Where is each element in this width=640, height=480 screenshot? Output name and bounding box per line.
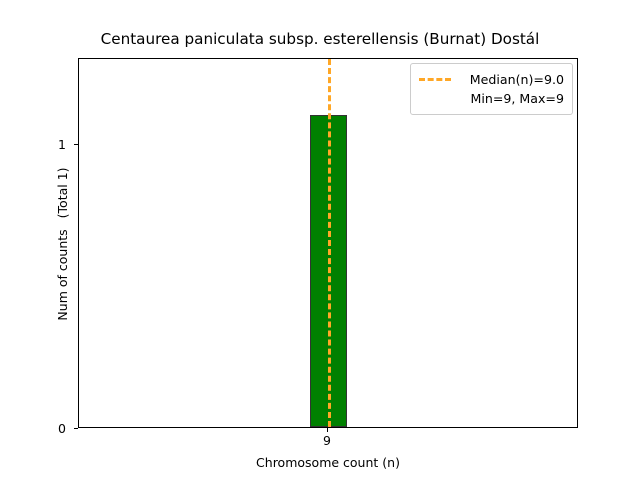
legend-label-median: Median(n)=9.0 [460,72,564,87]
legend-label-minmax: Min=9, Max=9 [460,91,564,106]
y-tick-label-0: 0 [38,421,66,436]
legend-entry-minmax: Min=9, Max=9 [419,89,564,108]
x-tick-label-9: 9 [302,433,352,448]
chart-figure: Centaurea paniculata subsp. esterellensi… [0,0,640,480]
y-tick-label-1: 1 [38,137,66,152]
y-tick-mark-0 [74,428,78,429]
y-axis-label-line2: (Total 1) [55,167,70,218]
legend-entry-median: Median(n)=9.0 [419,70,564,89]
y-axis-label-line1: Num of counts [55,229,70,320]
x-tick-mark-9 [327,428,328,432]
legend-dashed-line-icon [419,78,451,81]
median-line [328,59,331,427]
legend: Median(n)=9.0 Min=9, Max=9 [410,63,573,115]
y-axis-label: Num of counts (Total 1) [46,59,78,429]
plot-area: Median(n)=9.0 Min=9, Max=9 [78,58,578,428]
x-axis-label: Chromosome count (n) [78,455,578,470]
chart-title: Centaurea paniculata subsp. esterellensi… [0,30,640,48]
